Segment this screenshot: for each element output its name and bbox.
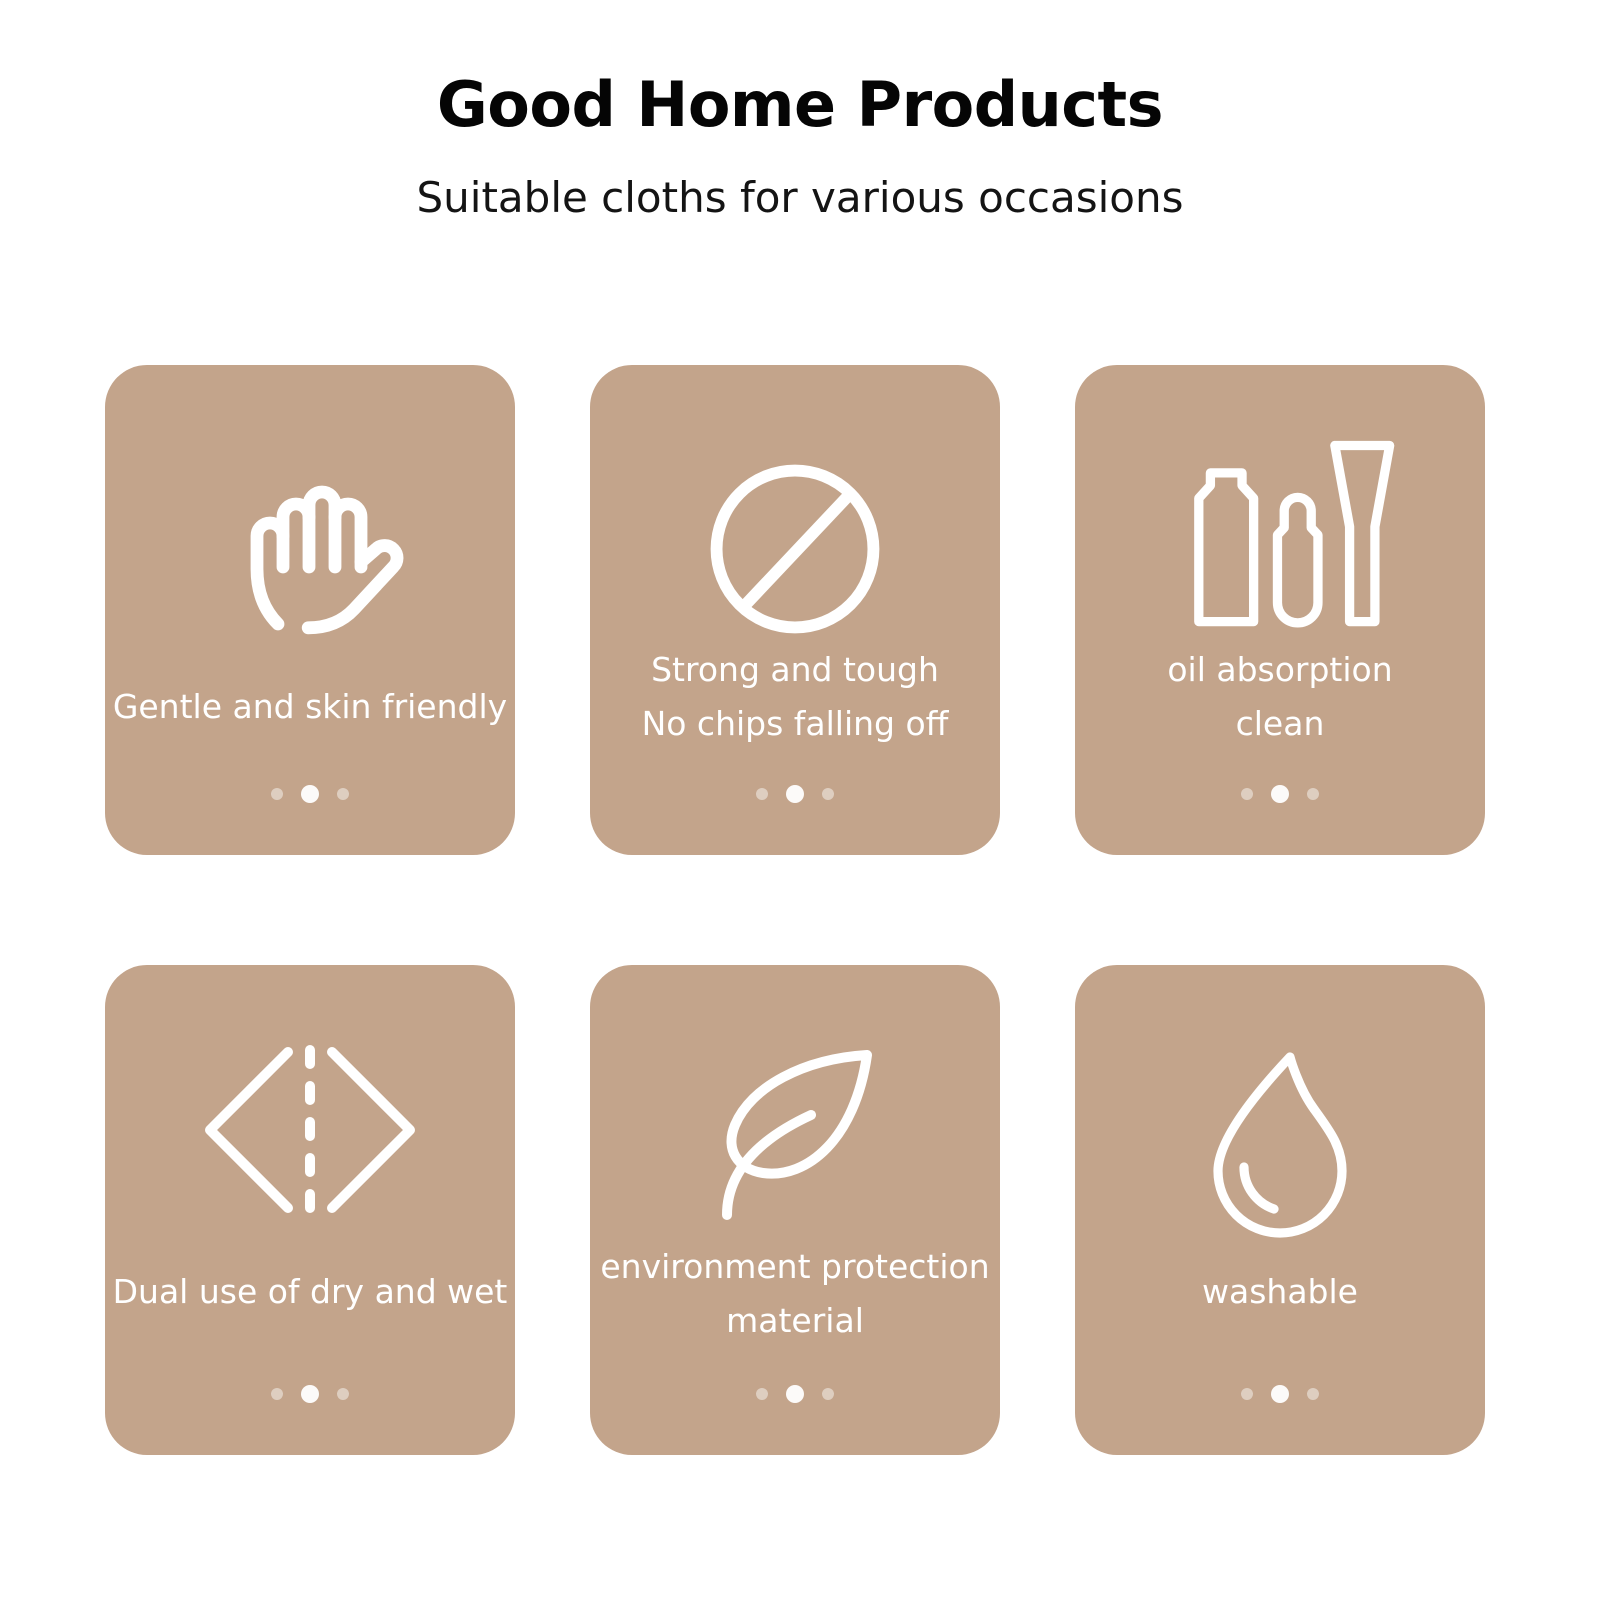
hand-icon (105, 455, 515, 655)
dot-indicator-active[interactable] (1271, 785, 1289, 803)
card-label-line: Strong and tough (576, 643, 1014, 697)
dot-indicator[interactable] (822, 1388, 834, 1400)
card-label-line: Gentle and skin friendly (91, 680, 529, 734)
dot-indicator[interactable] (337, 1388, 349, 1400)
feature-card-strong-and-tough[interactable]: Strong and tough No chips falling off (590, 365, 1000, 855)
dot-indicator[interactable] (1241, 788, 1253, 800)
feature-card-dual-use-dry-wet[interactable]: Dual use of dry and wet (105, 965, 515, 1455)
feature-card-gentle-skin-friendly[interactable]: Gentle and skin friendly (105, 365, 515, 855)
dot-indicator[interactable] (271, 1388, 283, 1400)
card-label: Strong and tough No chips falling off (576, 643, 1014, 752)
card-label: oil absorption clean (1061, 643, 1499, 752)
dot-indicator[interactable] (822, 788, 834, 800)
leaf-icon (590, 1035, 1000, 1235)
pagination-dots[interactable] (105, 785, 515, 803)
cosmetic-bottles-icon (1075, 427, 1485, 639)
water-droplet-icon (1075, 1043, 1485, 1249)
dot-indicator[interactable] (1307, 788, 1319, 800)
card-label-line: clean (1061, 697, 1499, 751)
pagination-dots[interactable] (105, 1385, 515, 1403)
dot-indicator[interactable] (337, 788, 349, 800)
pagination-dots[interactable] (590, 1385, 1000, 1403)
card-label-line: washable (1061, 1265, 1499, 1319)
dual-chevron-split-icon (105, 1040, 515, 1220)
card-label: Dual use of dry and wet (91, 1265, 529, 1319)
card-label-line: oil absorption (1061, 643, 1499, 697)
prohibited-circle-icon (590, 443, 1000, 655)
card-label-line: environment protection (576, 1240, 1014, 1294)
feature-card-environment-protection[interactable]: environment protection material (590, 965, 1000, 1455)
dot-indicator[interactable] (756, 788, 768, 800)
page-title: Good Home Products (0, 72, 1600, 137)
dot-indicator-active[interactable] (301, 785, 319, 803)
feature-card-oil-absorption-clean[interactable]: oil absorption clean (1075, 365, 1485, 855)
card-label-line: No chips falling off (576, 697, 1014, 751)
dot-indicator[interactable] (756, 1388, 768, 1400)
product-features-page: Good Home Products Suitable cloths for v… (0, 0, 1600, 1600)
feature-card-grid: Gentle and skin friendly Strong and toug… (105, 365, 1495, 1455)
page-subtitle: Suitable cloths for various occasions (0, 137, 1600, 221)
dot-indicator[interactable] (1241, 1388, 1253, 1400)
card-label: washable (1061, 1265, 1499, 1319)
card-label-line: Dual use of dry and wet (91, 1265, 529, 1319)
dot-indicator-active[interactable] (786, 1385, 804, 1403)
page-header: Good Home Products Suitable cloths for v… (0, 72, 1600, 221)
card-label: Gentle and skin friendly (91, 680, 529, 734)
feature-card-washable[interactable]: washable (1075, 965, 1485, 1455)
pagination-dots[interactable] (1075, 1385, 1485, 1403)
pagination-dots[interactable] (1075, 785, 1485, 803)
card-label: environment protection material (576, 1240, 1014, 1349)
dot-indicator-active[interactable] (786, 785, 804, 803)
card-label-line: material (576, 1294, 1014, 1348)
dot-indicator-active[interactable] (301, 1385, 319, 1403)
dot-indicator[interactable] (1307, 1388, 1319, 1400)
pagination-dots[interactable] (590, 785, 1000, 803)
dot-indicator-active[interactable] (1271, 1385, 1289, 1403)
dot-indicator[interactable] (271, 788, 283, 800)
